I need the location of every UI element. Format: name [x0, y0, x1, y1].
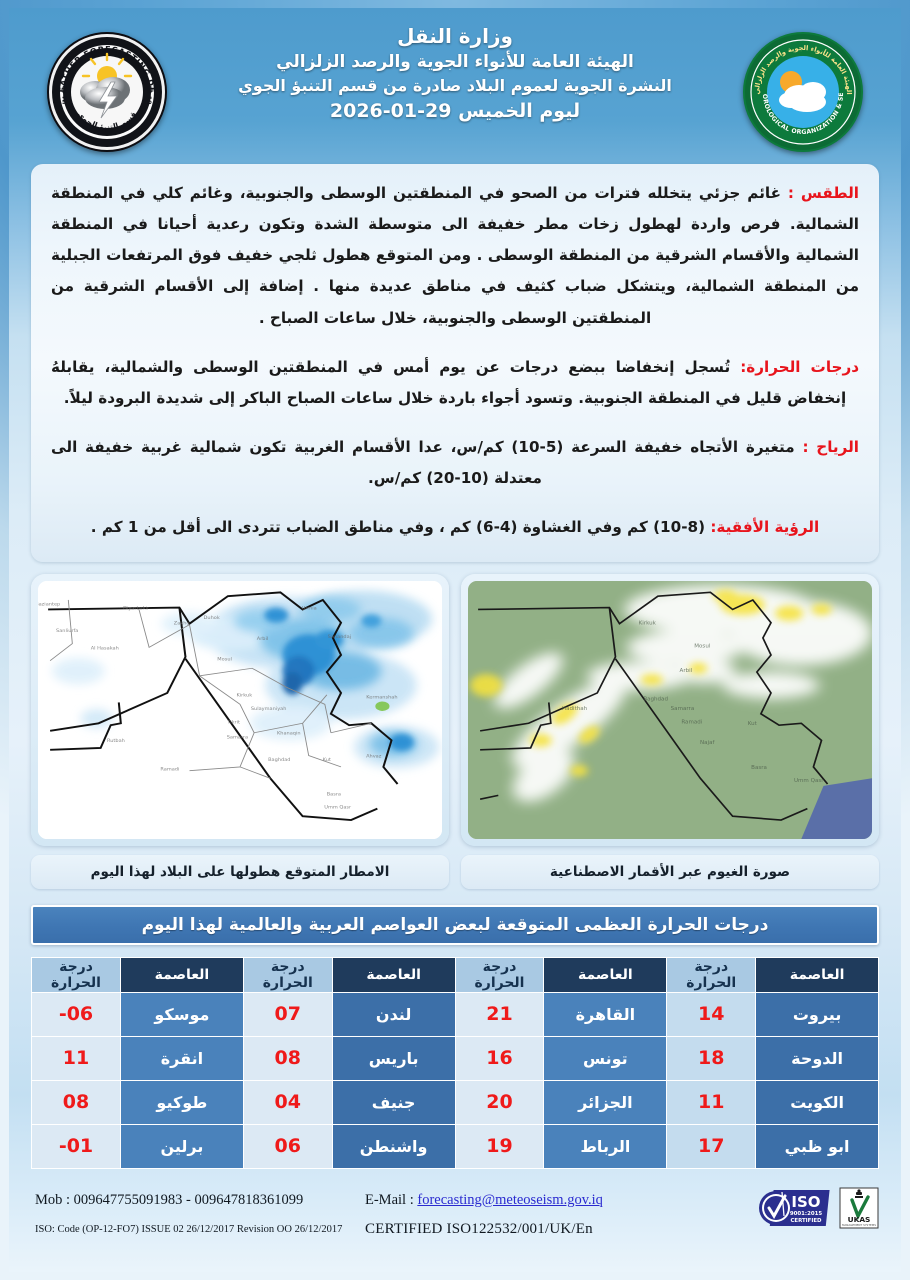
wind-text: متغيرة الأتجاه خفيفة السرعة (5-10) كم/س،…: [51, 438, 802, 487]
temp-cell: 11: [32, 1036, 121, 1080]
column-header-city-3: العاصمة: [332, 957, 455, 992]
ukas-badge-icon: UKAS MANAGEMENT SYSTEMS: [839, 1186, 879, 1230]
svg-text:Ahvaz: Ahvaz: [366, 753, 382, 759]
svg-text:Sanliurfa: Sanliurfa: [56, 628, 78, 634]
temperature-table: العاصمة درجة الحرارة العاصمة درجة الحرار…: [31, 957, 879, 1169]
svg-text:Arbil: Arbil: [257, 635, 269, 641]
temp-cell: 19: [455, 1124, 544, 1168]
svg-text:Mosul: Mosul: [694, 643, 710, 649]
table-row: الكويت 11 الجزائر 20 جنيف 04 طوكيو 08: [32, 1080, 879, 1124]
svg-text:Kut: Kut: [323, 757, 331, 763]
svg-text:Samarra: Samarra: [227, 734, 248, 740]
visibility-paragraph: الرؤية الأفقية: (8-10) كم وفي الغشاوة (4…: [51, 512, 859, 543]
weather-text: غائم جزئي يتخلله فترات من الصحو في المنط…: [51, 184, 859, 327]
svg-text:9001:2015: 9001:2015: [790, 1211, 822, 1217]
table-row: ابو ظبي 17 الرباط 19 واشنطن 06 برلين -01: [32, 1124, 879, 1168]
svg-text:Mosul: Mosul: [217, 656, 232, 662]
visibility-text: (8-10) كم وفي الغشاوة (4-6) كم ، وفي منا…: [91, 518, 711, 536]
email-link[interactable]: forecasting@meteoseism.gov.iq: [417, 1192, 603, 1208]
temp-cell: 21: [455, 992, 544, 1036]
page-header: WEATHER FORECASTING DEPT. قسم التنبؤ الج…: [9, 8, 901, 160]
email-line: E-Mail : forecasting@meteoseism.gov.iq: [365, 1192, 603, 1209]
city-cell: الجزائر: [544, 1080, 667, 1124]
svg-text:Diyarbakir: Diyarbakir: [123, 605, 149, 611]
precipitation-map-caption: الامطار المتوقع هطولها على البلاد لهذا ا…: [31, 855, 449, 889]
column-header-temp-4: درجة الحرارة: [32, 957, 121, 992]
city-cell: الرباط: [544, 1124, 667, 1168]
temp-cell: 08: [32, 1080, 121, 1124]
temp-cell: 14: [667, 992, 756, 1036]
table-row: بيروت 14 القاهرة 21 لندن 07 موسكو -06: [32, 992, 879, 1036]
precipitation-forecast-map[interactable]: Gaziantep Sanliurfa Al Hasakah Diyarbaki…: [38, 581, 442, 839]
temperature-paragraph: درجات الحرارة: تُسجل إنخفاضا ببضع درجات …: [51, 352, 859, 414]
svg-text:Arbil: Arbil: [680, 668, 693, 674]
weather-paragraph: الطقس : غائم جزئي يتخلله فترات من الصحو …: [51, 178, 859, 334]
column-header-city-4: العاصمة: [120, 957, 243, 992]
svg-text:MANAGEMENT SYSTEMS: MANAGEMENT SYSTEMS: [842, 1223, 876, 1227]
svg-text:Basra: Basra: [327, 791, 341, 797]
table-row: الدوحة 18 تونس 16 باريس 08 انقرة 11: [32, 1036, 879, 1080]
column-header-city-2: العاصمة: [544, 957, 667, 992]
temp-cell: -01: [32, 1124, 121, 1168]
temp-cell: 16: [455, 1036, 544, 1080]
page-footer: Mob : 009647755091983 - 009647818361099 …: [31, 1182, 879, 1248]
temp-cell: 20: [455, 1080, 544, 1124]
svg-text:ISO: ISO: [791, 1193, 820, 1211]
svg-text:Gaziantep: Gaziantep: [38, 601, 60, 607]
svg-text:Umm Qasr: Umm Qasr: [794, 778, 824, 784]
svg-text:Rutbah: Rutbah: [107, 738, 125, 744]
city-cell: الكويت: [756, 1080, 879, 1124]
svg-text:Ramadi: Ramadi: [160, 766, 179, 772]
svg-text:Basra: Basra: [751, 764, 767, 770]
temp-cell: 04: [243, 1080, 332, 1124]
svg-text:CERTIFIED: CERTIFIED: [790, 1218, 822, 1224]
svg-text:Baghdad: Baghdad: [643, 696, 668, 702]
city-cell: انقرة: [120, 1036, 243, 1080]
temperature-text: تُسجل إنخفاضا ببضع درجات عن يوم أمس في ا…: [51, 358, 846, 407]
city-cell: باريس: [332, 1036, 455, 1080]
svg-text:Khanaqin: Khanaqin: [277, 730, 301, 736]
city-cell: برلين: [120, 1124, 243, 1168]
city-cell: الدوحة: [756, 1036, 879, 1080]
svg-text:Tikrit: Tikrit: [226, 719, 240, 725]
temp-cell: 17: [667, 1124, 756, 1168]
table-header-row: العاصمة درجة الحرارة العاصمة درجة الحرار…: [32, 957, 879, 992]
temp-cell: 06: [243, 1124, 332, 1168]
svg-text:Najaf: Najaf: [700, 740, 715, 746]
bulletin-page: WEATHER FORECASTING DEPT. قسم التنبؤ الج…: [0, 0, 910, 1280]
column-header-temp-3: درجة الحرارة: [243, 957, 332, 992]
temp-cell: 08: [243, 1036, 332, 1080]
spacer: [51, 496, 859, 512]
svg-text:Al Hasakah: Al Hasakah: [91, 645, 119, 651]
svg-text:Hadithah: Hadithah: [562, 706, 587, 712]
precipitation-map-frame: Gaziantep Sanliurfa Al Hasakah Diyarbaki…: [31, 574, 449, 846]
svg-text:Kut: Kut: [748, 721, 757, 727]
bulletin-inner: WEATHER FORECASTING DEPT. قسم التنبؤ الج…: [9, 8, 901, 1272]
temp-cell: 18: [667, 1036, 756, 1080]
city-cell: لندن: [332, 992, 455, 1036]
maps-section: Kirkuk Mosul Arbil Baghdad Samarra Ramad…: [31, 574, 879, 889]
svg-text:Urmia: Urmia: [302, 605, 317, 611]
svg-text:Baghdad: Baghdad: [268, 757, 290, 763]
city-cell: بيروت: [756, 992, 879, 1036]
precipitation-map-column: Gaziantep Sanliurfa Al Hasakah Diyarbaki…: [31, 574, 449, 889]
footer-contact-row: Mob : 009647755091983 - 009647818361099 …: [35, 1188, 875, 1214]
svg-text:Duhok: Duhok: [204, 615, 220, 621]
svg-text:Zakho: Zakho: [174, 620, 190, 626]
satellite-map-column: Kirkuk Mosul Arbil Baghdad Samarra Ramad…: [461, 574, 879, 889]
temp-cell: 07: [243, 992, 332, 1036]
spacer: [51, 336, 859, 352]
satellite-map-caption: صورة الغيوم عبر الأقمار الاصطناعية: [461, 855, 879, 889]
wind-label: الرياح :: [802, 438, 859, 456]
footer-iso-row: ISO: Code (OP-12-FO7) ISSUE 02 26/12/201…: [35, 1218, 875, 1242]
weather-label: الطقس :: [788, 184, 859, 202]
iso-9001-badge-icon: ISO 9001:2015 CERTIFIED: [758, 1186, 830, 1230]
city-cell: ابو ظبي: [756, 1124, 879, 1168]
mobile-numbers: Mob : 009647755091983 - 009647818361099: [35, 1192, 365, 1209]
city-cell: موسكو: [120, 992, 243, 1036]
svg-text:Kermanshah: Kermanshah: [366, 694, 397, 700]
column-header-temp-2: درجة الحرارة: [455, 957, 544, 992]
temperature-table-title: درجات الحرارة العظمى المتوقعة لبعض العوا…: [31, 905, 879, 945]
city-cell: القاهرة: [544, 992, 667, 1036]
svg-text:Ramadi: Ramadi: [681, 719, 702, 725]
temp-cell: -06: [32, 992, 121, 1036]
svg-text:Kirkuk: Kirkuk: [639, 620, 657, 626]
city-cell: واشنطن: [332, 1124, 455, 1168]
satellite-map-frame: Kirkuk Mosul Arbil Baghdad Samarra Ramad…: [461, 574, 879, 846]
city-cell: تونس: [544, 1036, 667, 1080]
satellite-cloud-image[interactable]: Kirkuk Mosul Arbil Baghdad Samarra Ramad…: [468, 581, 872, 839]
svg-text:Kirkuk: Kirkuk: [236, 692, 252, 698]
svg-text:Sanandaj: Sanandaj: [328, 634, 351, 640]
city-cell: جنيف: [332, 1080, 455, 1124]
svg-text:Umm Qasr: Umm Qasr: [324, 804, 351, 810]
email-label: E-Mail :: [365, 1192, 417, 1208]
day-prefix: ليوم الخميس: [458, 100, 580, 122]
certified-line: CERTIFIED ISO122532/001/UK/En: [365, 1221, 593, 1238]
wind-paragraph: الرياح : متغيرة الأتجاه خفيفة السرعة (5-…: [51, 432, 859, 494]
city-cell: طوكيو: [120, 1080, 243, 1124]
certification-badges: ISO 9001:2015 CERTIFIED UKA: [758, 1186, 879, 1230]
visibility-label: الرؤية الأفقية:: [710, 518, 819, 536]
column-header-city-1: العاصمة: [756, 957, 879, 992]
svg-text:Sulaymaniyah: Sulaymaniyah: [251, 706, 287, 712]
iso-code-line: ISO: Code (OP-12-FO7) ISSUE 02 26/12/201…: [35, 1224, 365, 1235]
bulletin-text-panel: الطقس : غائم جزئي يتخلله فترات من الصحو …: [31, 164, 879, 562]
iraq-meteorological-organization-seal-icon: الهيئة العامة للأنواء الجوية والرصد الزل…: [743, 32, 863, 152]
temp-cell: 11: [667, 1080, 756, 1124]
spacer: [51, 416, 859, 432]
svg-text:Samarra: Samarra: [671, 706, 695, 712]
temperature-label: درجات الحرارة:: [740, 358, 859, 376]
column-header-temp-1: درجة الحرارة: [667, 957, 756, 992]
bulletin-date: 2026-01-29: [330, 100, 452, 122]
